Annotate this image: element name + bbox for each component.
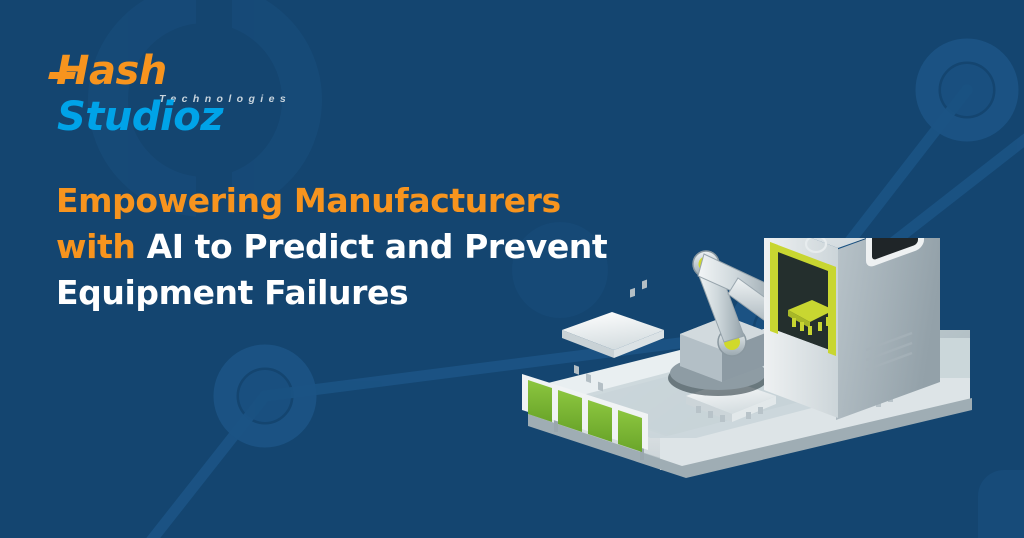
headline-line-1: Empowering Manufacturers	[56, 178, 676, 224]
headline: Empowering Manufacturers with AI to Pred…	[56, 178, 676, 316]
company-logo[interactable]: HashStudioz Technologies	[56, 48, 306, 116]
logo-wordmark: HashStudioz	[56, 48, 306, 96]
logo-text-studioz: Studioz	[57, 94, 223, 140]
headline-line2-accent: with	[56, 227, 135, 266]
logo-hash-bar-icon	[48, 72, 76, 79]
hero-banner: HashStudioz Technologies Empowering Manu…	[0, 0, 1024, 538]
headline-line2-text: AI to Predict and Prevent	[147, 227, 608, 266]
headline-line3-text: Equipment Failures	[56, 273, 408, 312]
headline-line1-text: Empowering Manufacturers	[56, 181, 561, 220]
headline-line-2: with AI to Predict and Prevent	[56, 224, 676, 270]
headline-line-3: Equipment Failures	[56, 270, 676, 316]
logo-text-hash: Hash	[56, 48, 167, 94]
